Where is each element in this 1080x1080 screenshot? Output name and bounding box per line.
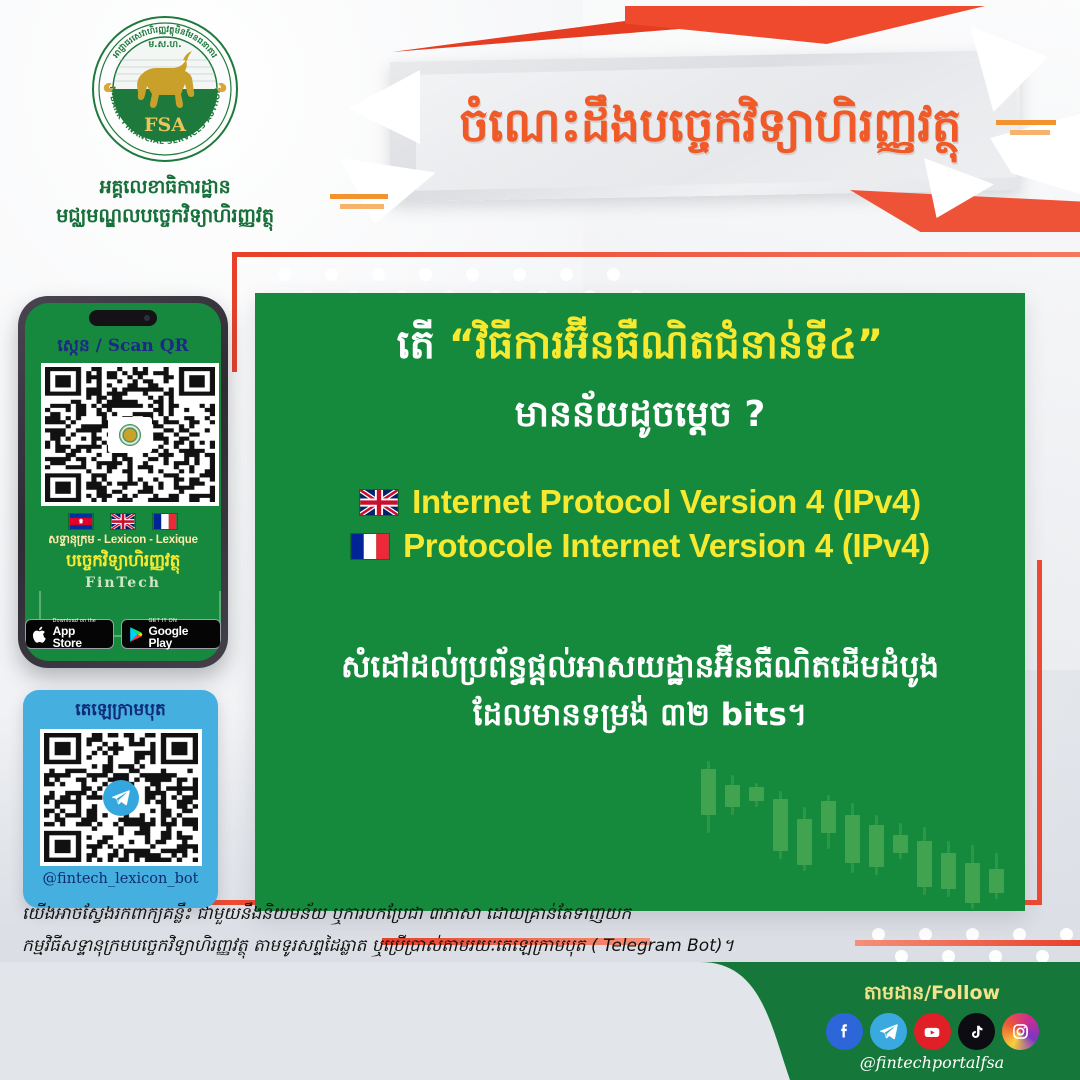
organization-name-line2: មជ្ឈមណ្ឌលបច្ចេកវិទ្យាហិរញ្ញវត្ថុ (40, 202, 290, 230)
svg-text:ម.ស.ហ.: ម.ស.ហ. (148, 40, 181, 50)
footer-note-line-2: កម្មវិធីសទ្ទានុក្រមបច្ចេកវិទ្យាហិរញ្ញវត្… (22, 931, 852, 962)
telegram-handle: @fintech_lexicon_bot (43, 871, 199, 887)
definition-text: សំដៅដល់ប្រព័ន្ធផ្តល់អាសយដ្ឋានអ៊ីនធឺណិតដើ… (295, 643, 985, 739)
google-play-icon (129, 626, 144, 643)
kh-flag-icon (68, 513, 94, 530)
apple-icon (33, 626, 48, 643)
telegram-card-title: តេឡេក្រាមបុត (75, 699, 166, 724)
follow-label: តាមដាន/Follow (812, 981, 1052, 1009)
footer-note-line-1: យើងអាចស្វែងរកពាក្យគន្លឹះ ជាមួយនឹងនិយមន័យ… (22, 899, 852, 930)
facebook-icon[interactable] (826, 1013, 863, 1050)
app-brand-khmer: បច្ចេកវិទ្យាហិរញ្ញវត្ថុ (25, 550, 221, 575)
answer-list: Internet Protocol Version 4 (IPv4) Proto… (255, 483, 1025, 565)
fsa-seal-icon: FSA ម.ស.ហ. អាជ្ញាធរសេវាហិរញ្ញវត្ថុមិនមែន… (90, 14, 240, 164)
header-banner: ចំណេះដឹងបច្ចេកវិទ្យាហិរញ្ញវត្ថុ (330, 8, 1080, 243)
footer-note: យើងអាចស្វែងរកពាក្យគន្លឹះ ជាមួយនឹងនិយមន័យ… (22, 899, 852, 962)
banner-stripe-2 (1010, 130, 1050, 135)
fr-flag-icon-small (152, 513, 178, 530)
main-content-panel: តើ “វិធីការអ៊ីនធឺណិតជំនាន់ទី៤” មានន័យដូច… (255, 293, 1025, 911)
tiktok-icon[interactable] (958, 1013, 995, 1050)
question-line-1: តើ “វិធីការអ៊ីនធឺណិតជំនាន់ទី៤” (255, 321, 1025, 369)
banner-stripe-3 (330, 194, 388, 199)
phone-notch (89, 310, 157, 326)
follow-handle: @fintechportalfsa (812, 1053, 1052, 1072)
uk-flag-icon (359, 489, 399, 516)
language-block: សទ្ទានុក្រម - Lexicon - Lexique បច្ចេកវិ… (25, 513, 221, 591)
question-prefix: តើ (397, 322, 435, 368)
scan-qr-label: ស្កេន / Scan QR (25, 335, 221, 360)
google-play-badge[interactable]: GET IT ON Google Play (121, 619, 221, 649)
answer-text-french: Protocole Internet Version 4 (IPv4) (403, 527, 930, 565)
youtube-icon[interactable] (914, 1013, 951, 1050)
definition-line-2: ដែលមានទម្រង់ ៣២ bits។ (295, 691, 985, 739)
store-badges: Download on the App Store GET IT ON Goog… (25, 619, 221, 649)
social-links (812, 1013, 1052, 1050)
language-flags (25, 513, 221, 530)
google-play-big-text: Google Play (149, 625, 213, 649)
telegram-qr-code[interactable] (40, 729, 202, 866)
phone-mockup: ស្កេន / Scan QR (18, 296, 228, 668)
footer-curve-shape (0, 962, 790, 1080)
follow-block: តាមដាន/Follow @fintechportalfsa (812, 981, 1052, 1072)
banner-stripe-4 (340, 204, 384, 209)
app-store-badge[interactable]: Download on the App Store (25, 619, 114, 649)
app-brand-english: FinTech (25, 575, 221, 591)
telegram-social-icon[interactable] (870, 1013, 907, 1050)
organization-name-line1: អគ្គលេខាធិការដ្ឋាន (100, 176, 231, 198)
definition-line-1: សំដៅដល់ប្រព័ន្ធផ្តល់អាសយដ្ឋានអ៊ីនធឺណិតដើ… (295, 643, 985, 691)
app-qr-code[interactable] (41, 363, 219, 506)
poster-root: ចំណេះដឹងបច្ចេកវិទ្យាហិរញ្ញវត្ថុ FSA ម.ស.… (0, 0, 1080, 1080)
phone-screen: ស្កេន / Scan QR (25, 303, 221, 661)
uk-flag-icon-small (110, 513, 136, 530)
answer-row-french: Protocole Internet Version 4 (IPv4) (350, 527, 930, 565)
app-store-big-text: App Store (53, 625, 106, 649)
qr-center-seal-icon (119, 424, 141, 446)
telegram-icon (103, 780, 139, 816)
banner-title: ចំណេះដឹងបច្ចេកវិទ្យាហិរញ្ញវត្ថុ (410, 72, 1010, 180)
organization-logo-block: FSA ម.ស.ហ. អាជ្ញាធរសេវាហិរញ្ញវត្ថុមិនមែន… (40, 14, 290, 230)
qr-center-logo (108, 417, 152, 453)
fr-flag-icon (350, 533, 390, 560)
answer-text-english: Internet Protocol Version 4 (IPv4) (412, 483, 921, 521)
footer-accent-line-right (855, 940, 1080, 946)
instagram-icon[interactable] (1002, 1013, 1039, 1050)
banner-shard-red-2 (625, 6, 985, 44)
telegram-bot-card[interactable]: តេឡេក្រាមបុត @fintech_lexicon_bot (23, 690, 218, 908)
question-quoted-term: “វិធីការអ៊ីនធឺណិតជំនាន់ទី៤” (449, 322, 883, 368)
answer-row-english: Internet Protocol Version 4 (IPv4) (359, 483, 921, 521)
lexicon-label: សទ្ទានុក្រម - Lexicon - Lexique (25, 532, 221, 549)
question-line-2: មានន័យដូចម្តេច ? (255, 391, 1025, 444)
organization-name: អគ្គលេខាធិការដ្ឋាន មជ្ឈមណ្ឌលបច្ចេកវិទ្យា… (40, 174, 290, 230)
logo-initials: FSA (144, 114, 186, 136)
